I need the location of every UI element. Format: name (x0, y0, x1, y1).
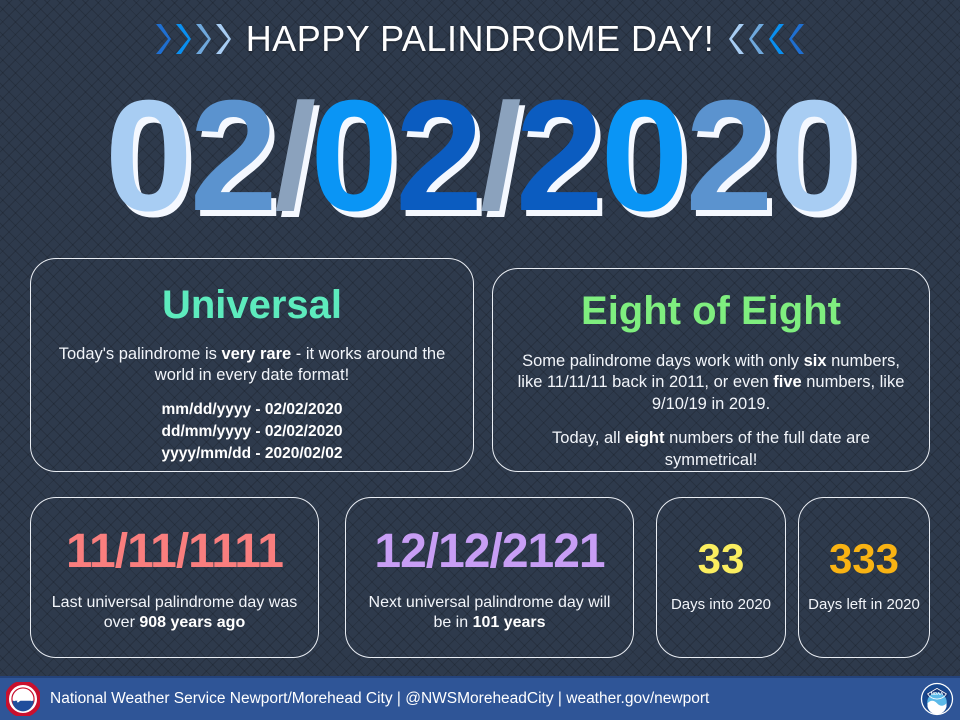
date-digit-4: 2 (395, 77, 480, 235)
footer-text: National Weather Service Newport/Morehea… (50, 690, 709, 708)
days-into-caption: Days into 2020 (657, 596, 785, 615)
card-eight-of-eight-title: Eight of Eight (493, 291, 929, 331)
date-digit-9: 0 (770, 77, 855, 235)
card-universal-title: Universal (31, 285, 473, 325)
next-palindrome-date: 12/12/2121 (346, 528, 633, 576)
days-into-number: 33 (657, 538, 785, 580)
date-digit-1: 2 (190, 77, 275, 235)
date-digit-0: 0 (105, 77, 190, 235)
chevron-right-icon (154, 22, 172, 56)
card-next-palindrome: 12/12/2121 Next universal palindrome day… (345, 497, 634, 658)
date-digit-8: 2 (685, 77, 770, 235)
header-banner: HAPPY PALINDROME DAY! (0, 0, 960, 78)
footer-bar: National Weather Service Newport/Morehea… (0, 676, 960, 720)
chevron-left-icon (768, 22, 786, 56)
chevron-left-icon (788, 22, 806, 56)
date-format-row: yyyy/mm/dd - 2020/02/02 (162, 443, 343, 465)
eight-p1-bold-five: five (773, 373, 801, 391)
card-last-palindrome: 11/11/1111 Last universal palindrome day… (30, 497, 319, 658)
date-digit-6: 2 (516, 77, 601, 235)
date-digit-7: 0 (601, 77, 686, 235)
next-caption-bold: 101 years (473, 614, 546, 631)
palindrome-date-display: 02/02/2020 (0, 72, 960, 240)
eight-paragraph-one: Some palindrome days work with only six … (513, 351, 909, 415)
chevron-left-icon (748, 22, 766, 56)
eight-p2-bold-eight: eight (625, 429, 664, 447)
card-days-into-year: 33 Days into 2020 (656, 497, 786, 658)
date-separator: / (275, 81, 311, 231)
date-format-list: mm/dd/yyyy - 02/02/2020 dd/mm/yyyy - 02/… (53, 399, 451, 465)
noaa-logo-icon: NOAA (920, 682, 954, 716)
last-caption-bold: 908 years ago (139, 614, 245, 631)
card-days-left-in-year: 333 Days left in 2020 (798, 497, 930, 658)
svg-text:NOAA: NOAA (931, 691, 944, 696)
nws-logo-icon (6, 682, 40, 716)
eight-p2-a: Today, all (552, 429, 625, 447)
card-eight-of-eight-body: Some palindrome days work with only six … (493, 351, 929, 471)
page-title: HAPPY PALINDROME DAY! (246, 18, 715, 60)
universal-body-bold: very rare (221, 345, 291, 363)
universal-body-prefix: Today's palindrome is (59, 345, 222, 363)
chevron-left-icon-group (728, 22, 806, 56)
chevron-right-icon-group (154, 22, 232, 56)
card-universal-body: Today's palindrome is very rare - it wor… (31, 344, 473, 465)
eight-p1-bold-six: six (804, 352, 827, 370)
chevron-right-icon (174, 22, 192, 56)
days-left-caption: Days left in 2020 (799, 596, 929, 615)
next-palindrome-caption: Next universal palindrome day will be in… (346, 593, 633, 633)
last-palindrome-date: 11/11/1111 (31, 528, 318, 576)
date-format-row: mm/dd/yyyy - 02/02/2020 (162, 399, 343, 421)
eight-p2-c: numbers of the full date are symmetrical… (665, 429, 870, 468)
days-left-number: 333 (799, 538, 929, 580)
eight-p1-a: Some palindrome days work with only (522, 352, 804, 370)
date-format-row: dd/mm/yyyy - 02/02/2020 (162, 421, 343, 443)
infographic-canvas: HAPPY PALINDROME DAY! 02/02/2020 Univers… (0, 0, 960, 720)
chevron-left-icon (728, 22, 746, 56)
date-separator: / (480, 81, 516, 231)
card-universal: Universal Today's palindrome is very rar… (30, 258, 474, 472)
last-palindrome-caption: Last universal palindrome day was over 9… (31, 593, 318, 633)
chevron-right-icon (194, 22, 212, 56)
chevron-right-icon (214, 22, 232, 56)
date-digit-3: 0 (310, 77, 395, 235)
eight-paragraph-two: Today, all eight numbers of the full dat… (513, 428, 909, 471)
card-eight-of-eight: Eight of Eight Some palindrome days work… (492, 268, 930, 472)
